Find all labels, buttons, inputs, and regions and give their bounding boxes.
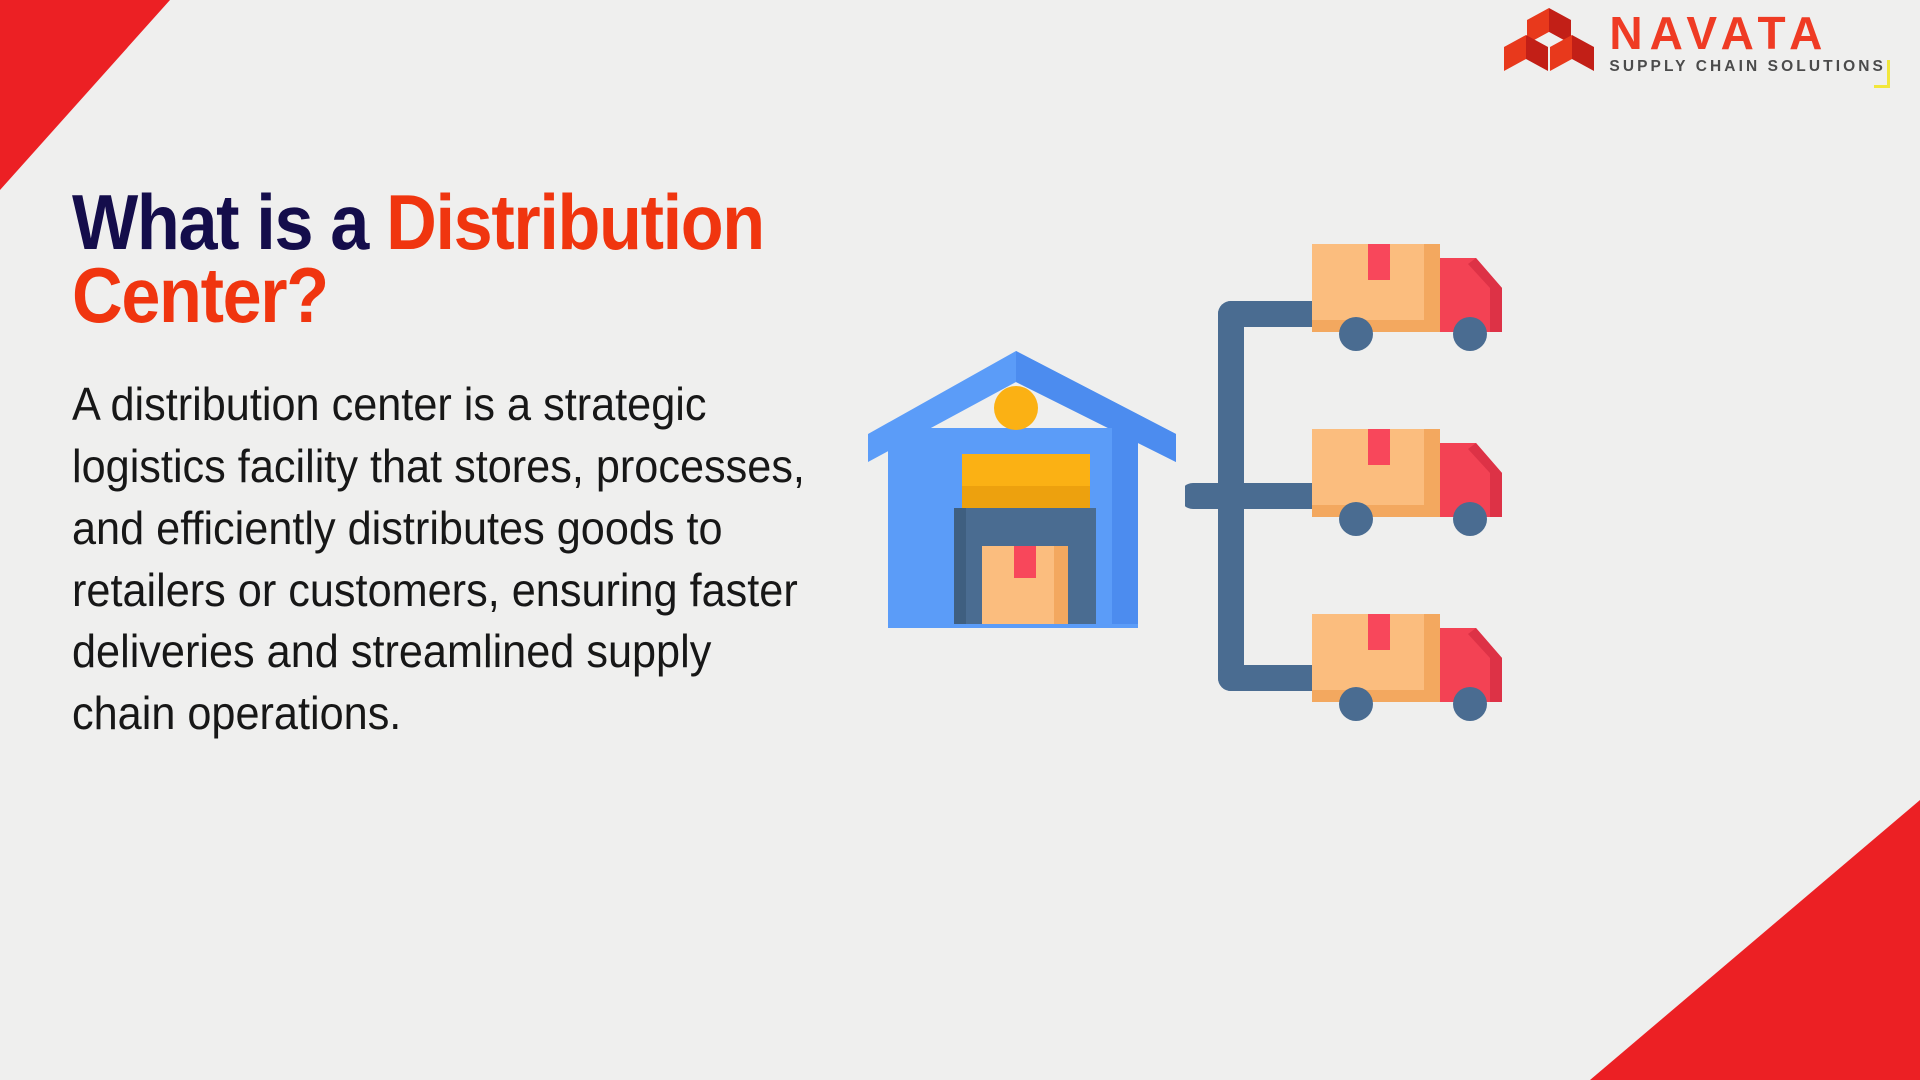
red-wedge-bottom-right — [1590, 800, 1920, 1080]
delivery-truck-3 — [1310, 606, 1520, 726]
warehouse-building-icon — [858, 348, 1188, 636]
navata-logo: NAVATA SUPPLY CHAIN SOLUTIONS — [1503, 6, 1886, 82]
page-title: What is a Distribution Center? — [72, 186, 810, 331]
delivery-truck-1 — [1310, 236, 1520, 356]
logo-tagline: SUPPLY CHAIN SOLUTIONS — [1609, 58, 1886, 77]
logo-wordmark: NAVATA SUPPLY CHAIN SOLUTIONS — [1609, 11, 1886, 77]
logo-corner-tick-icon — [1874, 60, 1890, 88]
three-cubes-logo-icon — [1503, 6, 1595, 82]
red-wedge-top-left — [0, 0, 170, 190]
truck-fleet — [1310, 236, 1920, 746]
delivery-truck-2 — [1310, 421, 1520, 541]
body-paragraph: A distribution center is a strategic log… — [72, 374, 824, 745]
logo-word: NAVATA — [1609, 11, 1829, 56]
